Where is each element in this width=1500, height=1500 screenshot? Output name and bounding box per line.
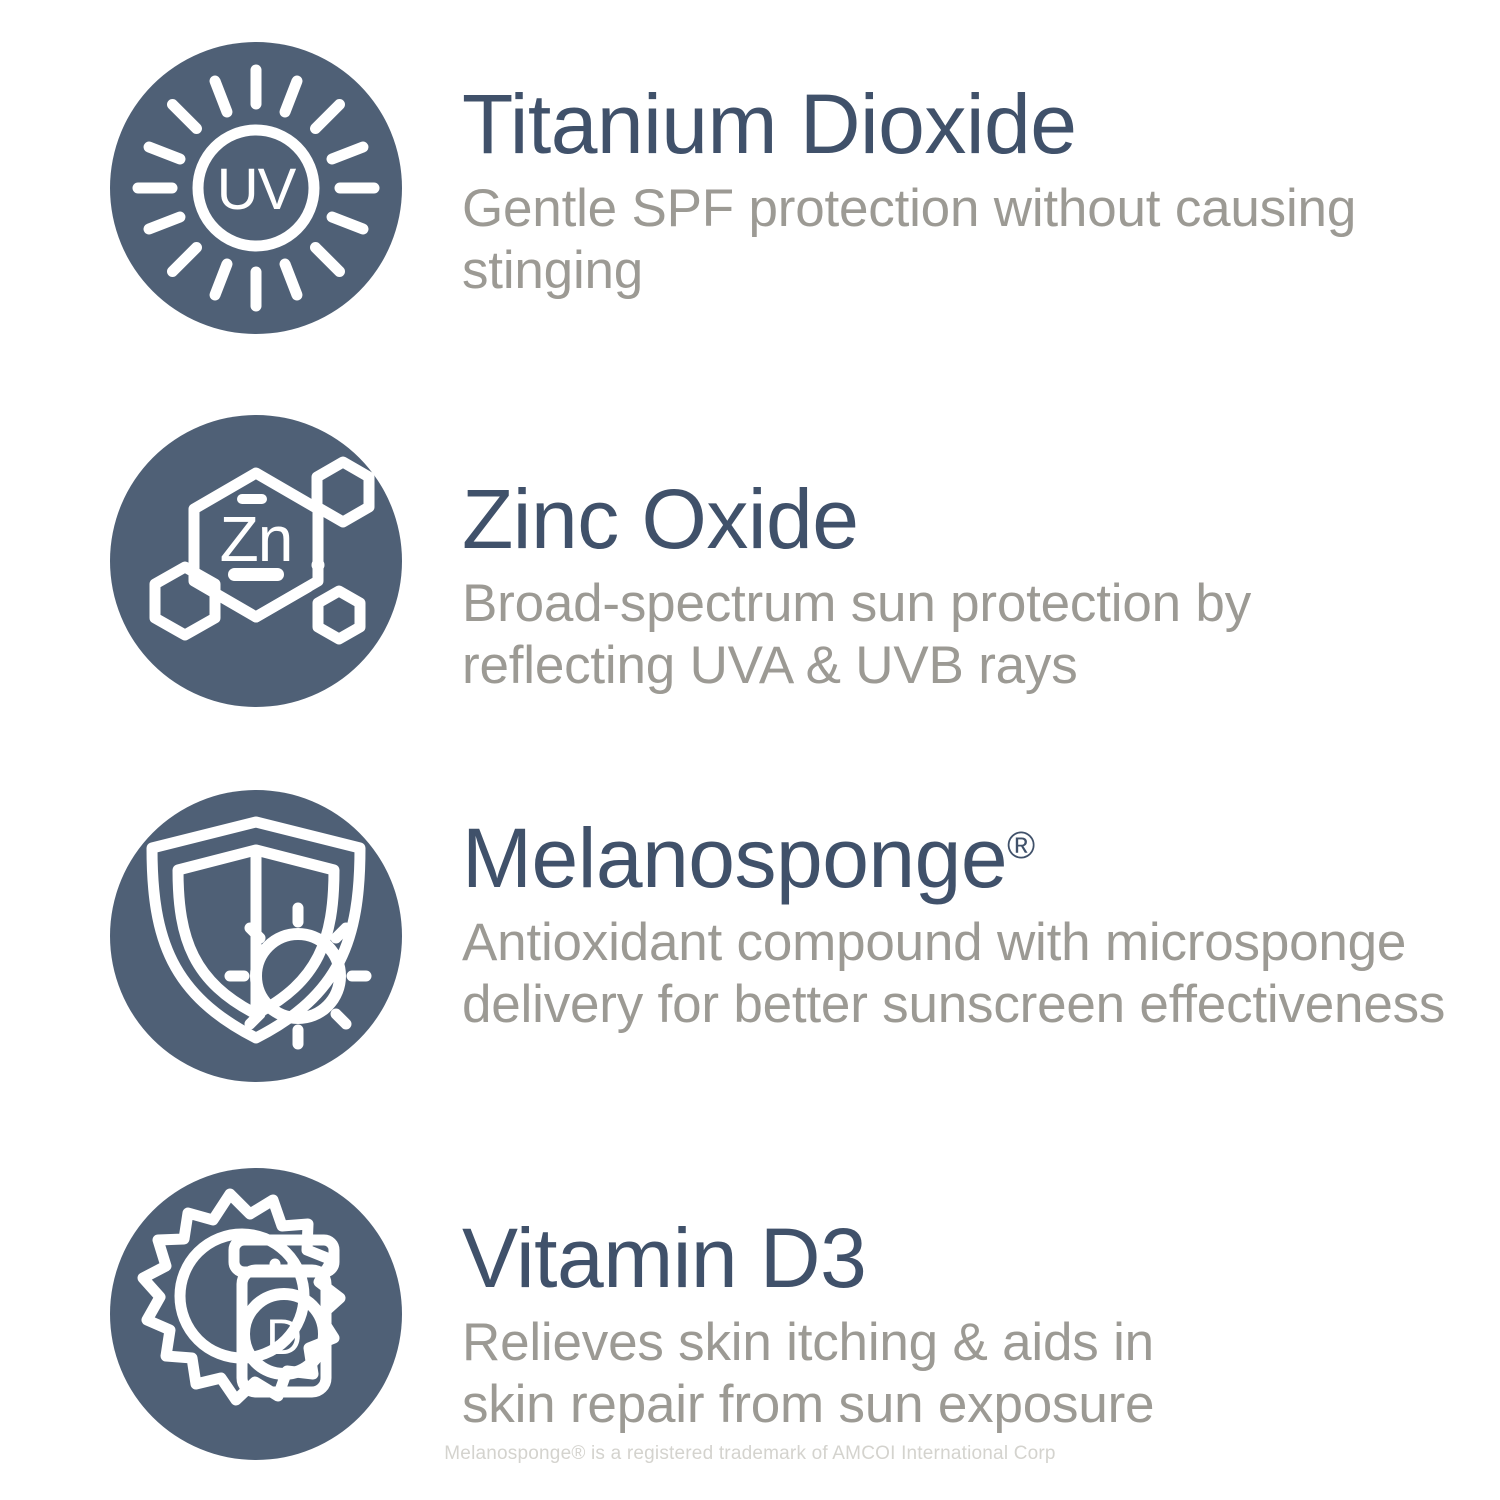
ingredient-title: Zinc Oxide — [462, 477, 1472, 563]
uv-sun-icon: UV — [110, 42, 402, 334]
ingredient-description: Gentle SPF protection without causing st… — [462, 178, 1362, 303]
ingredient-title-text: Melanosponge — [462, 811, 1007, 905]
ingredient-text: Zinc Oxide Broad-spectrum sun protection… — [462, 477, 1472, 698]
ingredient-title: Titanium Dioxide — [462, 82, 1472, 168]
vitamin-d-icon-label: D — [266, 1309, 302, 1365]
shield-sun-icon — [110, 790, 402, 1082]
ingredient-row: D Vitamin D3 Relieves skin itching & aid… — [0, 1168, 1500, 1460]
registered-trademark-symbol: ® — [1007, 825, 1035, 867]
ingredient-title: Melanosponge® — [462, 816, 1472, 902]
sun-supplement-bottle-icon: D — [110, 1168, 402, 1460]
zinc-icon-label: Zn — [220, 503, 293, 575]
ingredient-row: Melanosponge® Antioxidant compound with … — [0, 790, 1500, 1082]
trademark-footer: Melanosponge® is a registered trademark … — [0, 1443, 1500, 1465]
ingredient-row: UV Titanium Dioxide Gentle SPF protectio… — [0, 42, 1500, 334]
ingredient-description: Antioxidant compound with microsponge de… — [462, 912, 1447, 1037]
ingredient-description: Relieves skin itching & aids in skin rep… — [462, 1312, 1222, 1437]
ingredient-title: Vitamin D3 — [462, 1216, 1472, 1302]
ingredient-description: Broad-spectrum sun protection by reflect… — [462, 573, 1252, 698]
ingredient-list: UV Titanium Dioxide Gentle SPF protectio… — [0, 0, 1500, 1500]
zinc-molecule-icon: Zn — [110, 415, 402, 707]
ingredient-text: Vitamin D3 Relieves skin itching & aids … — [462, 1216, 1472, 1437]
uv-icon-label: UV — [217, 157, 297, 222]
ingredient-text: Titanium Dioxide Gentle SPF protection w… — [462, 82, 1472, 303]
ingredient-text: Melanosponge® Antioxidant compound with … — [462, 816, 1472, 1037]
ingredient-row: Zn Zinc Oxide Broad-spectrum sun protect… — [0, 415, 1500, 707]
